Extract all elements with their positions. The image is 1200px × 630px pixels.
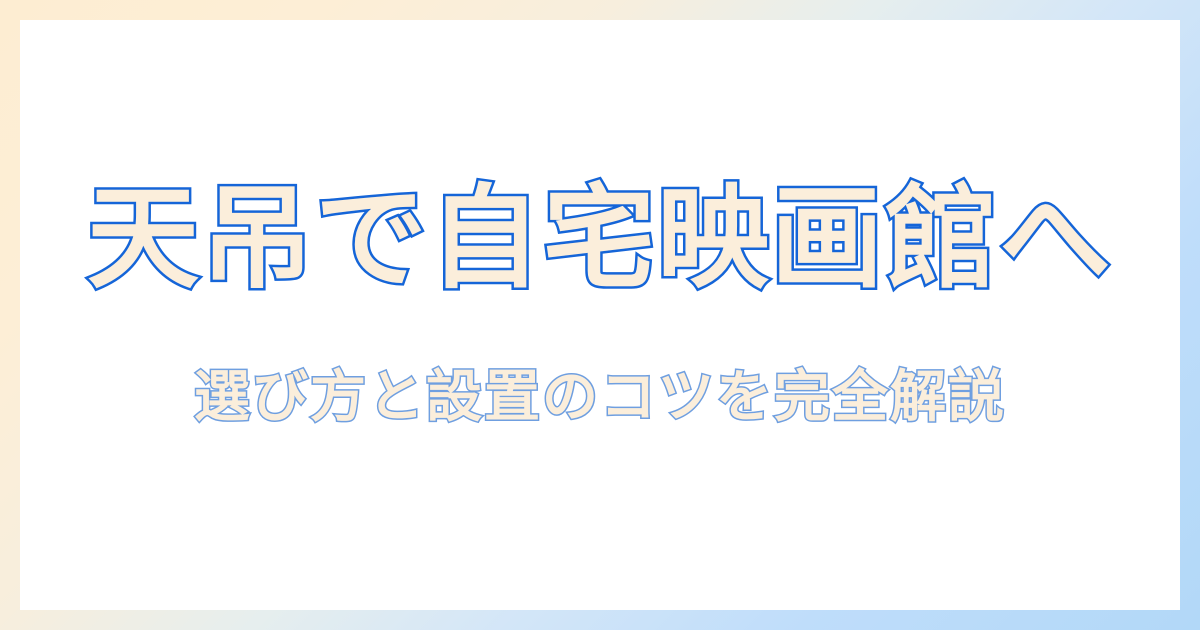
headline-stack: 天吊で自宅映画館へ 選び方と設置のコツを完全解説 xyxy=(20,174,1180,438)
subtitle-row: 選び方と設置のコツを完全解説 xyxy=(20,358,1180,438)
page-subtitle: 選び方と設置のコツを完全解説 xyxy=(194,370,1006,426)
title-row: 天吊で自宅映画館へ xyxy=(20,174,1180,304)
content-card: 天吊で自宅映画館へ 選び方と設置のコツを完全解説 xyxy=(20,20,1180,610)
eyecatch-canvas: 天吊で自宅映画館へ 選び方と設置のコツを完全解説 xyxy=(0,0,1200,630)
page-title: 天吊で自宅映画館へ xyxy=(87,183,1113,295)
